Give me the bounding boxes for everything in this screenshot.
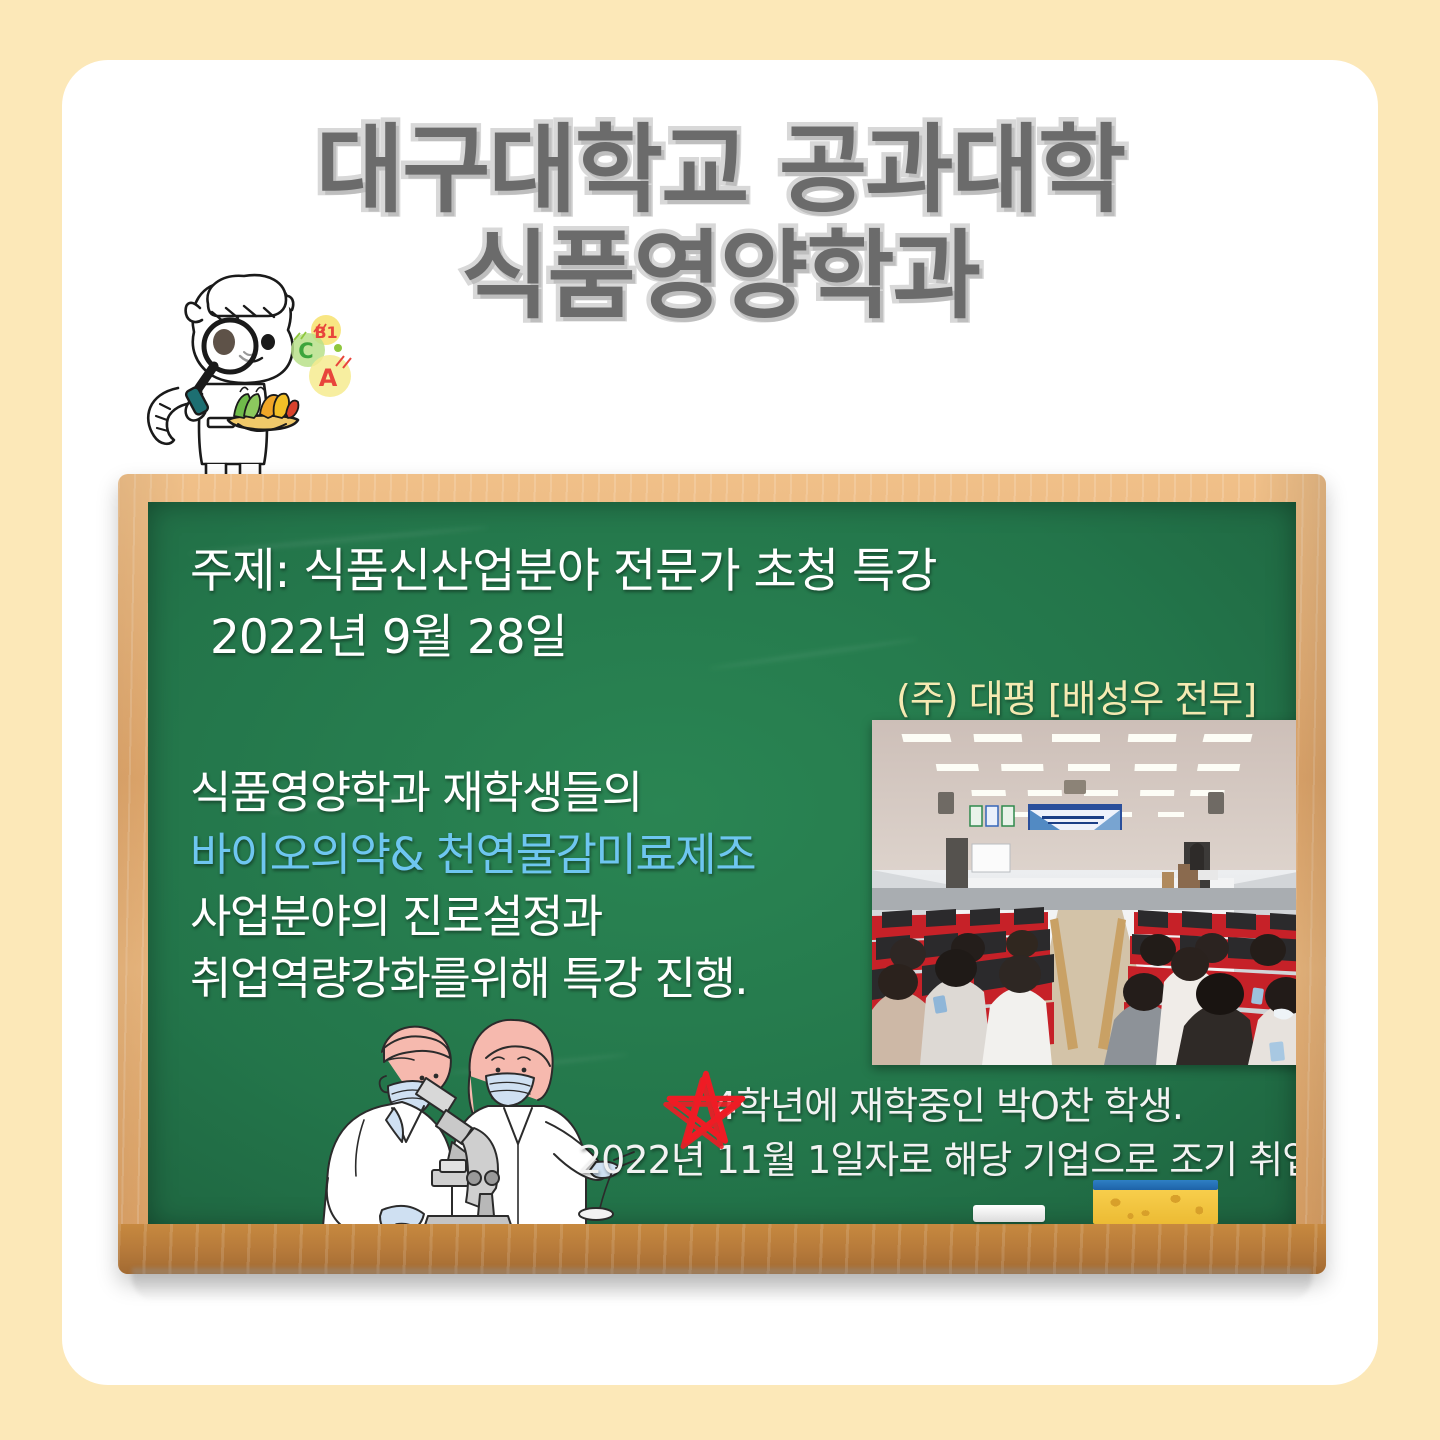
lecture-date: 2022년 9월 28일 bbox=[210, 598, 567, 667]
sponge-eraser-icon bbox=[1093, 1180, 1218, 1224]
chalk-ledge bbox=[118, 1224, 1326, 1274]
body-line-3: 사업분야의 진로설정과 bbox=[190, 886, 890, 948]
board-footer: 4학년에 재학중인 박O찬 학생. 2022년 11월 1일자로 해당 기업으로… bbox=[578, 1080, 1296, 1188]
lecture-subject: 주제: 식품신산업분야 전문가 초청 특강 bbox=[190, 532, 936, 601]
body-line-1: 식품영양학과 재학생들의 bbox=[190, 762, 890, 824]
svg-text:A: A bbox=[319, 364, 338, 392]
lecture-hall-photo bbox=[872, 720, 1296, 1065]
poster-root: 대구대학교 공과대학 식품영양학과 bbox=[0, 0, 1440, 1440]
company-speaker-label: (주) 대평 [배성우 전무] bbox=[896, 668, 1256, 723]
chalk-stick-icon bbox=[973, 1205, 1045, 1222]
sponge-body bbox=[1093, 1188, 1218, 1224]
sponge-top bbox=[1093, 1180, 1218, 1190]
chalkboard: 주제: 식품신산업분야 전문가 초청 특강 2022년 9월 28일 (주) 대… bbox=[118, 474, 1326, 1274]
board-body-text: 식품영양학과 재학생들의 바이오의약& 천연물감미료제조 사업분야의 진로설정과… bbox=[190, 762, 890, 1010]
tiger-mascot-icon: B1 C A bbox=[140, 268, 390, 480]
chalk-smudge bbox=[709, 637, 918, 670]
body-line-2: 바이오의약& 천연물감미료제조 bbox=[190, 824, 890, 886]
ledge-shadow bbox=[132, 1268, 1312, 1302]
red-star-icon bbox=[658, 1066, 754, 1162]
chalkboard-surface: 주제: 식품신산업분야 전문가 초청 특강 2022년 9월 28일 (주) 대… bbox=[148, 502, 1296, 1228]
svg-text:C: C bbox=[298, 339, 313, 363]
